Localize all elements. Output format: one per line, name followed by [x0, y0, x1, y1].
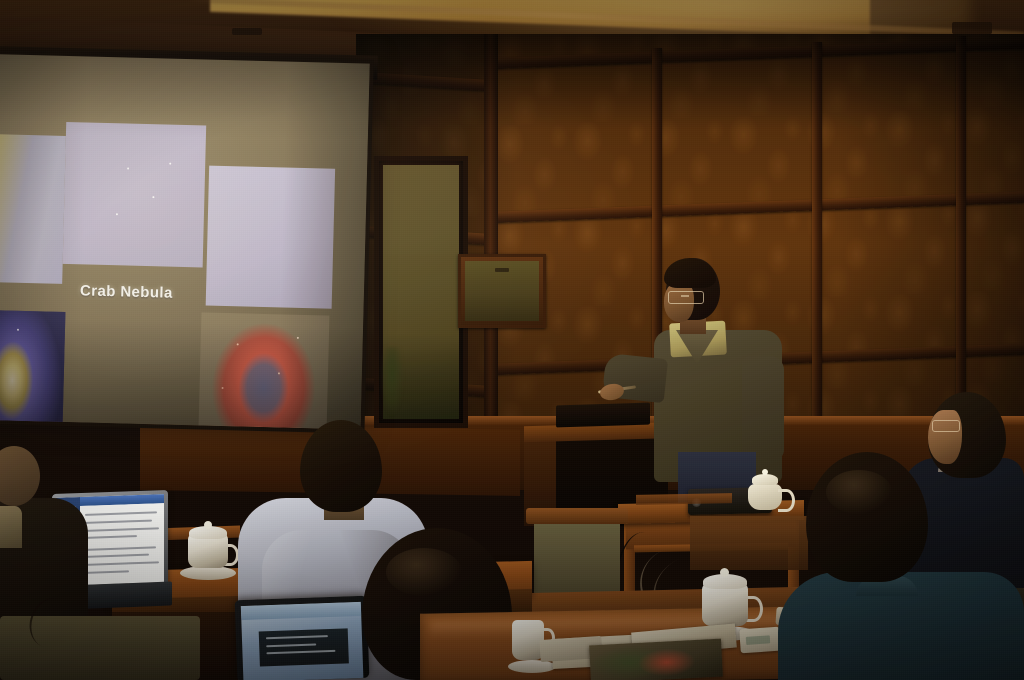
attendee-front-center-hair-highlight	[386, 548, 462, 596]
framed-wall-panel	[458, 254, 546, 328]
teacup-body	[702, 584, 748, 626]
wall-batten	[812, 42, 822, 466]
teapot-handle	[778, 489, 795, 512]
power-adapter	[739, 627, 781, 654]
ceiling-fixture	[232, 28, 262, 35]
presenter-right-arm	[742, 356, 784, 460]
conference-room-photo: Crab Nebula	[0, 0, 1024, 680]
slide-image-top-right	[206, 166, 336, 309]
framed-panel-surface	[465, 261, 539, 321]
projection-screen: Crab Nebula	[0, 52, 370, 429]
slide-image-top-center	[63, 122, 207, 267]
slide-title: Crab Nebula	[80, 282, 173, 301]
laptop-black	[235, 596, 370, 680]
slide-image-bottom-left	[0, 310, 65, 430]
teapot-knob	[762, 469, 768, 475]
framed-panel-tab	[495, 268, 509, 272]
laptop-black-content-panel	[259, 628, 349, 666]
attendee-glasses-right-face	[928, 410, 962, 464]
teapot-lid	[752, 474, 778, 485]
attendee-left-edge-head	[0, 446, 40, 506]
saucer	[508, 660, 556, 673]
mirror-reflection-plant	[381, 347, 403, 415]
wall-mirror	[374, 156, 468, 428]
teacup-knob	[720, 568, 729, 577]
chair-rail	[636, 493, 732, 505]
laptop-black-screen	[241, 602, 364, 680]
laptop-document-area	[80, 503, 164, 585]
slide-image-bottom-right	[198, 312, 330, 429]
lectern-laptop	[556, 403, 650, 428]
attendee-left-edge-shoulder	[0, 506, 22, 548]
laptop-black-titlebar	[241, 602, 361, 620]
attendee-blue-shirt-head	[300, 420, 382, 512]
chair-back	[690, 516, 808, 570]
slide-image-top-left	[0, 134, 66, 284]
glasses-icon	[932, 420, 960, 432]
teacup-body	[188, 534, 228, 568]
teapot-body	[748, 484, 782, 510]
glasses-icon	[668, 291, 704, 304]
teacup-knob	[204, 521, 212, 529]
ceiling-fixture	[952, 22, 992, 34]
saucer	[180, 566, 236, 580]
brochure	[589, 639, 723, 680]
attendee-teal-shirt-hair-highlight	[826, 470, 892, 514]
